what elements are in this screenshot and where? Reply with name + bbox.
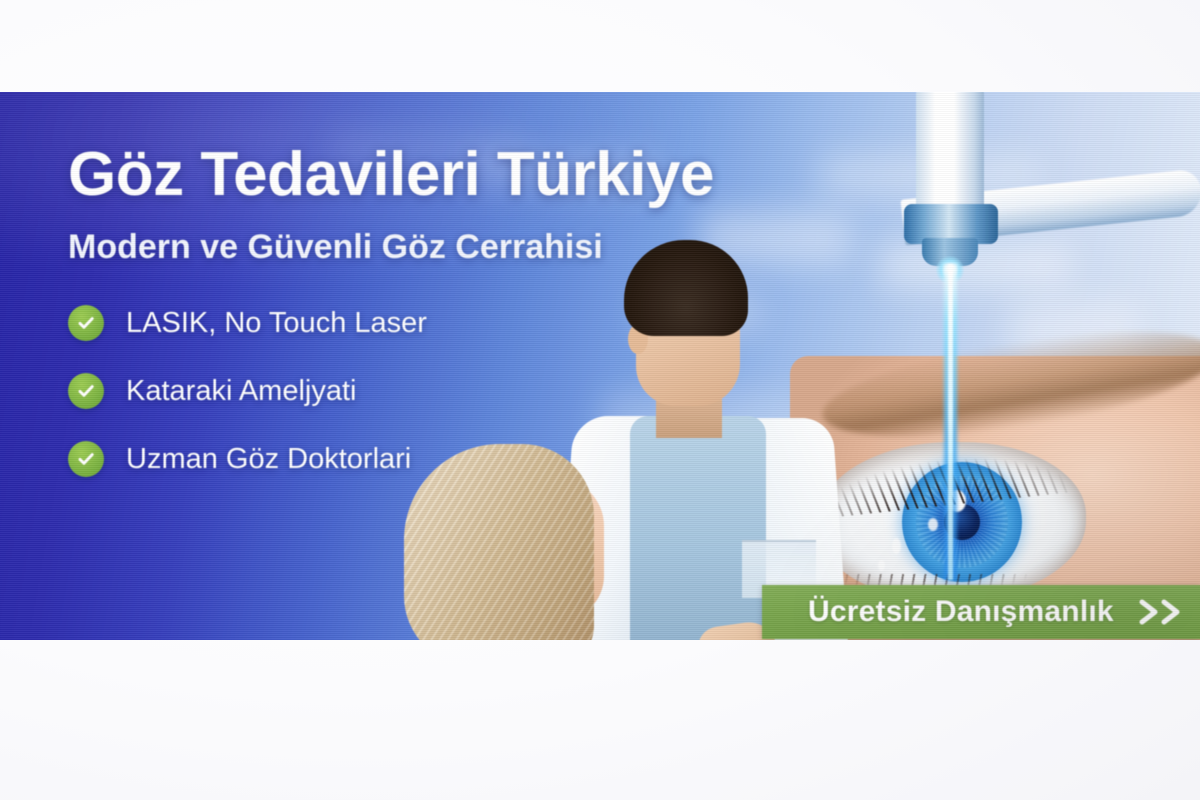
- eye-highlight: [878, 560, 885, 571]
- check-circle-icon: [68, 441, 104, 477]
- check-circle-icon: [68, 305, 104, 341]
- eye-highlight: [892, 538, 901, 554]
- feature-list: LASIK, No Touch Laser Kataraki Ameljyati: [68, 305, 828, 477]
- laser-beam-core: [948, 264, 953, 580]
- eye-treatment-banner[interactable]: Göz Tedavileri Türkiye Modern ve Güvenli…: [0, 92, 1200, 640]
- banner-subtitle: Modern ve Güvenli Göz Cerrahisi: [68, 228, 828, 267]
- laser-barrel: [916, 92, 984, 212]
- banner-title: Göz Tedavileri Türkiye: [68, 144, 828, 206]
- free-consultation-button[interactable]: Ücretsiz Danışmanlık: [762, 585, 1200, 639]
- banner-text-block: Göz Tedavileri Türkiye Modern ve Güvenli…: [68, 144, 828, 509]
- list-item-label: Kataraki Ameljyati: [126, 375, 357, 408]
- check-circle-icon: [68, 373, 104, 409]
- list-item-label: Uzman Göz Doktorlari: [126, 443, 411, 476]
- list-item-label: LASIK, No Touch Laser: [126, 307, 427, 340]
- eye-highlight: [928, 518, 938, 531]
- list-item: LASIK, No Touch Laser: [68, 305, 828, 341]
- free-consultation-label: Ücretsiz Danışmanlık: [808, 595, 1114, 629]
- laser-device: [896, 92, 1116, 348]
- list-item: Kataraki Ameljyati: [68, 373, 828, 409]
- list-item: Uzman Göz Doktorlari: [68, 441, 828, 477]
- page-background: Göz Tedavileri Türkiye Modern ve Güvenli…: [0, 0, 1200, 800]
- double-chevron-right-icon: [1136, 597, 1192, 627]
